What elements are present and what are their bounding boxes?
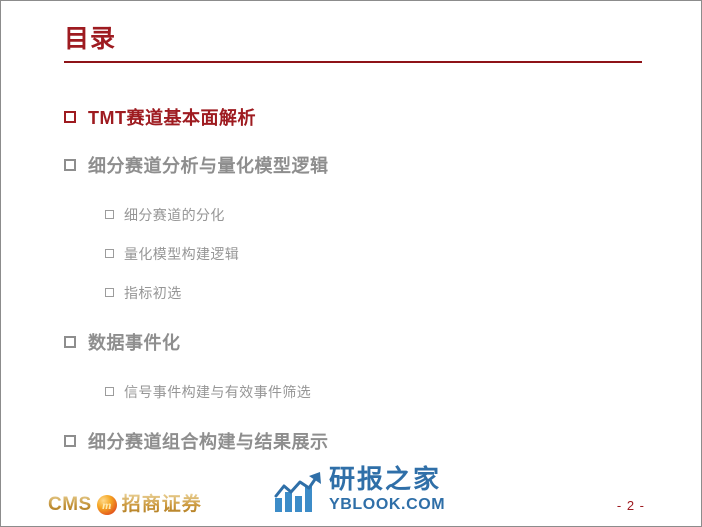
cms-emblem-icon: m bbox=[97, 495, 117, 515]
toc-subitem-2-1[interactable]: 细分赛道的分化 bbox=[105, 205, 644, 226]
cms-latin-wordmark: CMS bbox=[48, 494, 92, 516]
toc-item-label: TMT赛道基本面解析 bbox=[88, 105, 256, 131]
slide-footer: CMS m 招商证券 研报之家 bbox=[1, 454, 701, 526]
toc-item-label: 数据事件化 bbox=[88, 330, 181, 356]
square-bullet-icon bbox=[105, 288, 114, 297]
square-bullet-icon bbox=[64, 111, 76, 123]
square-bullet-icon bbox=[64, 159, 76, 171]
toc-subitem-3-1[interactable]: 信号事件构建与有效事件筛选 bbox=[105, 382, 644, 403]
square-bullet-icon bbox=[105, 387, 114, 396]
title-underline-rule bbox=[64, 61, 642, 63]
table-of-contents: TMT赛道基本面解析 细分赛道分析与量化模型逻辑 细分赛道的分化 量化模型构建逻… bbox=[64, 105, 644, 477]
square-bullet-icon bbox=[105, 249, 114, 258]
toc-item-4[interactable]: 细分赛道组合构建与结果展示 bbox=[64, 429, 644, 455]
toc-item-label: 细分赛道组合构建与结果展示 bbox=[88, 429, 329, 455]
square-bullet-icon bbox=[64, 435, 76, 447]
toc-subitem-label: 指标初选 bbox=[124, 283, 182, 304]
slide-page: 目录 TMT赛道基本面解析 细分赛道分析与量化模型逻辑 细分赛道的分化 量化模型… bbox=[0, 0, 702, 527]
cms-brand-logo: CMS m 招商证券 bbox=[48, 492, 202, 518]
page-title: 目录 bbox=[64, 23, 642, 55]
toc-item-3[interactable]: 数据事件化 bbox=[64, 330, 644, 356]
toc-subitem-2-2[interactable]: 量化模型构建逻辑 bbox=[105, 244, 644, 265]
yblook-watermark: 研报之家 YBLOOK.COM bbox=[273, 465, 445, 514]
toc-subitem-2-3[interactable]: 指标初选 bbox=[105, 283, 644, 304]
toc-item-label: 细分赛道分析与量化模型逻辑 bbox=[88, 153, 329, 179]
toc-subitem-label: 细分赛道的分化 bbox=[124, 205, 225, 226]
toc-item-1[interactable]: TMT赛道基本面解析 bbox=[64, 105, 644, 131]
cms-chinese-wordmark: 招商证券 bbox=[122, 493, 202, 517]
title-block: 目录 bbox=[64, 23, 642, 63]
toc-item-2[interactable]: 细分赛道分析与量化模型逻辑 bbox=[64, 153, 644, 179]
toc-subitem-label: 信号事件构建与有效事件筛选 bbox=[124, 382, 311, 403]
square-bullet-icon bbox=[64, 336, 76, 348]
square-bullet-icon bbox=[105, 210, 114, 219]
watermark-text-block: 研报之家 YBLOOK.COM bbox=[329, 465, 445, 514]
watermark-chinese-name: 研报之家 bbox=[329, 465, 445, 493]
watermark-domain: YBLOOK.COM bbox=[329, 495, 445, 514]
page-number: - 2 - bbox=[617, 498, 645, 514]
cms-emblem-glyph: m bbox=[102, 499, 111, 511]
bar-chart-uptrend-icon bbox=[273, 470, 323, 514]
toc-subitem-label: 量化模型构建逻辑 bbox=[124, 244, 239, 265]
